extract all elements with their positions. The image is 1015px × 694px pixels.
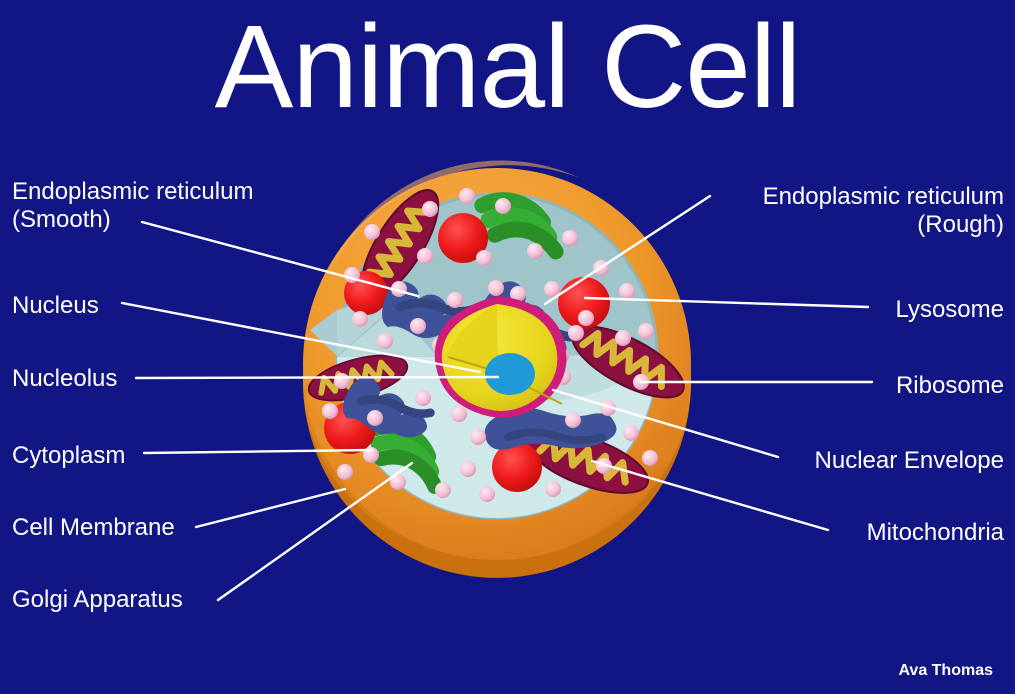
credit-text: Ava Thomas — [898, 662, 993, 680]
leader-cell-membrane — [196, 489, 345, 527]
label-nucleolus: Nucleolus — [12, 365, 117, 393]
label-nuclear-envelope: Nuclear Envelope — [815, 447, 1004, 475]
leader-nucleolus — [136, 377, 498, 378]
cell-body — [303, 160, 694, 577]
cell-diagram-canvas: Animal Cell Ava Thomas Endoplasmic retic… — [0, 0, 1015, 694]
label-er-rough: Endoplasmic reticulum (Rough) — [763, 183, 1004, 240]
label-er-smooth: Endoplasmic reticulum (Smooth) — [12, 178, 253, 235]
label-lysosome: Lysosome — [896, 296, 1005, 324]
page-title: Animal Cell — [0, 6, 1015, 130]
label-nucleus: Nucleus — [12, 292, 99, 320]
label-cell-membrane: Cell Membrane — [12, 514, 175, 542]
nucleolus — [485, 353, 535, 395]
label-cytoplasm: Cytoplasm — [12, 442, 125, 470]
label-golgi: Golgi Apparatus — [12, 586, 183, 614]
label-mitochondria: Mitochondria — [867, 519, 1004, 547]
label-ribosome: Ribosome — [896, 372, 1004, 400]
